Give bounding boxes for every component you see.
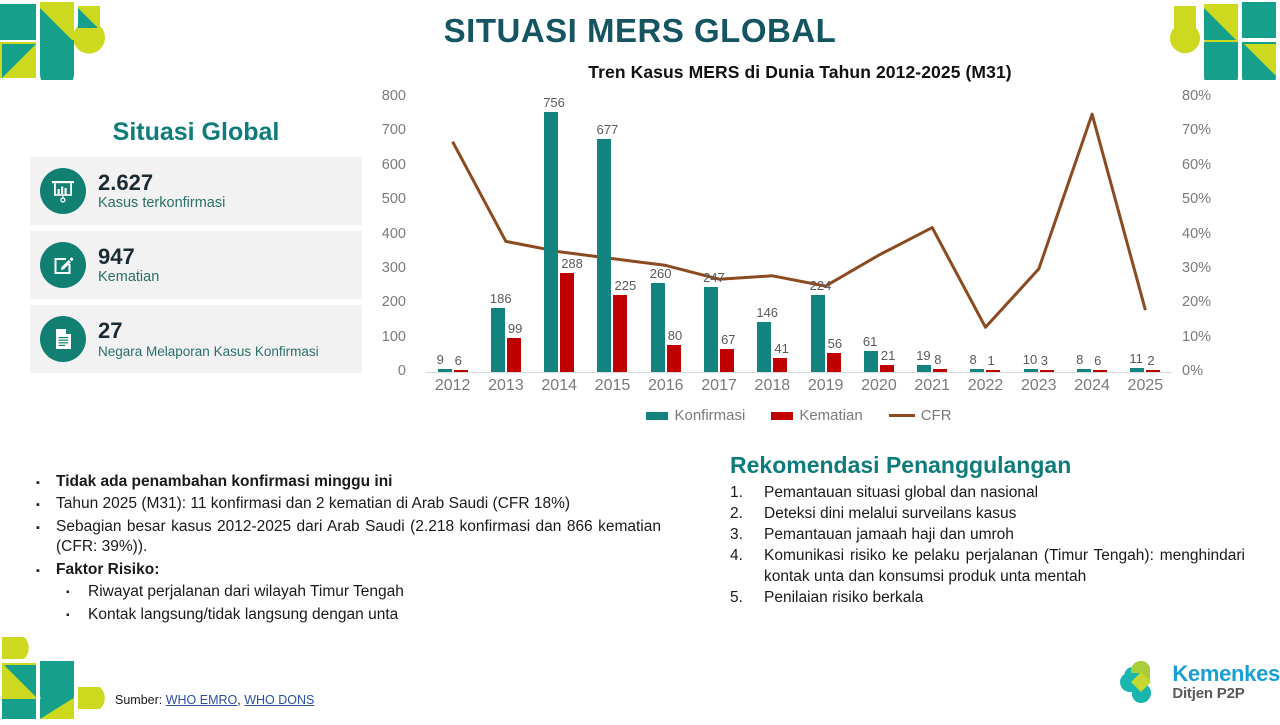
bullet-marker-icon: ▪ bbox=[36, 494, 56, 514]
kemenkes-logo: Kemenkes Ditjen P2P bbox=[1117, 658, 1280, 706]
y-axis-tick-left: 600 bbox=[360, 157, 406, 173]
y-axis-tick-left: 400 bbox=[360, 226, 406, 242]
bar-kematian bbox=[507, 338, 521, 372]
stat-value: 2.627 bbox=[98, 171, 225, 196]
bar-konfirmasi bbox=[704, 287, 718, 372]
legend-item[interactable]: CFR bbox=[889, 407, 952, 424]
bar-group bbox=[692, 97, 745, 372]
legend-item[interactable]: Konfirmasi bbox=[646, 407, 745, 424]
y-axis-tick-left: 300 bbox=[360, 260, 406, 276]
bar-value-label-konfirmasi: 61 bbox=[863, 334, 877, 349]
y-axis-tick-right: 50% bbox=[1182, 191, 1232, 207]
bullet-marker-icon: ▪ bbox=[66, 582, 88, 602]
bullet-marker-icon: ▪ bbox=[36, 472, 56, 492]
source-line: Sumber: WHO EMRO, WHO DONS bbox=[115, 693, 314, 707]
bar-value-label-konfirmasi: 677 bbox=[597, 122, 619, 137]
bullet-marker-icon: ▪ bbox=[66, 605, 88, 625]
note-bullet: ▪Faktor Risiko: bbox=[36, 560, 661, 580]
bar-konfirmasi bbox=[1077, 369, 1091, 372]
bar-group bbox=[799, 97, 852, 372]
bar-value-label-konfirmasi: 146 bbox=[756, 305, 778, 320]
bar-value-label-kematian: 99 bbox=[508, 321, 522, 336]
notes-list: ▪Tidak ada penambahan konfirmasi minggu … bbox=[36, 472, 661, 627]
bar-konfirmasi bbox=[864, 351, 878, 372]
y-axis-tick-left: 100 bbox=[360, 329, 406, 345]
bar-value-label-kematian: 80 bbox=[668, 328, 682, 343]
note-bullet: ▪Sebagian besar kasus 2012-2025 dari Ara… bbox=[36, 517, 661, 558]
recommendation-text: Pemantauan jamaah haji dan umroh bbox=[764, 525, 1245, 545]
bar-group bbox=[1119, 97, 1172, 372]
bar-group bbox=[586, 97, 639, 372]
bar-value-label-kematian: 1 bbox=[988, 353, 995, 368]
bar-kematian bbox=[880, 365, 894, 372]
note-bullet: ▪Kontak langsung/tidak langsung dengan u… bbox=[66, 605, 661, 625]
y-axis-tick-right: 80% bbox=[1182, 88, 1232, 104]
bar-value-label-konfirmasi: 10 bbox=[1023, 352, 1037, 367]
note-bullet: ▪Riwayat perjalanan dari wilayah Timur T… bbox=[66, 582, 661, 602]
recommendation-item: 1.Pemantauan situasi global dan nasional bbox=[730, 483, 1245, 503]
bar-konfirmasi bbox=[1130, 368, 1144, 372]
bar-value-label-kematian: 67 bbox=[721, 332, 735, 347]
stat-text-confirmed: 2.627 Kasus terkonfirmasi bbox=[98, 171, 225, 212]
bar-group bbox=[852, 97, 905, 372]
recommendation-number: 2. bbox=[730, 504, 764, 524]
note-text: Faktor Risiko: bbox=[56, 560, 661, 580]
document-icon bbox=[40, 316, 86, 362]
bar-value-label-konfirmasi: 19 bbox=[916, 348, 930, 363]
situasi-global-heading: Situasi Global bbox=[30, 118, 362, 147]
bar-group bbox=[479, 97, 532, 372]
bar-value-label-konfirmasi: 247 bbox=[703, 270, 725, 285]
bar-kematian bbox=[986, 370, 1000, 372]
bar-group bbox=[906, 97, 959, 372]
recommendation-text: Deteksi dini melalui surveilans kasus bbox=[764, 504, 1245, 524]
bar-value-label-kematian: 21 bbox=[881, 348, 895, 363]
x-axis-tick: 2025 bbox=[1110, 377, 1180, 395]
bar-konfirmasi bbox=[651, 283, 665, 372]
note-text: Riwayat perjalanan dari wilayah Timur Te… bbox=[88, 582, 661, 602]
legend-swatch-konfirmasi bbox=[646, 412, 668, 420]
bar-kematian bbox=[613, 295, 627, 372]
bar-value-label-kematian: 288 bbox=[561, 256, 583, 271]
bar-konfirmasi bbox=[491, 308, 505, 372]
bar-group bbox=[746, 97, 799, 372]
y-axis-tick-right: 70% bbox=[1182, 122, 1232, 138]
legend-label: CFR bbox=[921, 407, 952, 424]
note-text: Tahun 2025 (M31): 11 konfirmasi dan 2 ke… bbox=[56, 494, 661, 514]
bar-kematian bbox=[1146, 370, 1160, 372]
bar-group bbox=[1012, 97, 1065, 372]
recommendation-item: 2.Deteksi dini melalui surveilans kasus bbox=[730, 504, 1245, 524]
legend-label: Konfirmasi bbox=[674, 407, 745, 424]
chart-legend: KonfirmasiKematianCFR bbox=[426, 407, 1172, 424]
recommendations-panel: Rekomendasi Penanggulangan 1.Pemantauan … bbox=[730, 452, 1245, 609]
recommendation-text: Pemantauan situasi global dan nasional bbox=[764, 483, 1245, 503]
bar-group bbox=[533, 97, 586, 372]
note-bullet: ▪Tahun 2025 (M31): 11 konfirmasi dan 2 k… bbox=[36, 494, 661, 514]
recommendation-item: 4.Komunikasi risiko ke pelaku perjalanan… bbox=[730, 546, 1245, 586]
bar-konfirmasi bbox=[597, 139, 611, 372]
y-axis-tick-left: 200 bbox=[360, 294, 406, 310]
bar-value-label-kematian: 41 bbox=[774, 341, 788, 356]
y-axis-tick-right: 20% bbox=[1182, 294, 1232, 310]
bar-value-label-konfirmasi: 8 bbox=[970, 352, 977, 367]
bar-konfirmasi bbox=[544, 112, 558, 372]
bar-konfirmasi bbox=[811, 295, 825, 372]
y-axis-tick-right: 30% bbox=[1182, 260, 1232, 276]
bar-kematian bbox=[667, 345, 681, 373]
link-who-emro[interactable]: WHO EMRO bbox=[166, 693, 238, 707]
recommendation-number: 1. bbox=[730, 483, 764, 503]
chart-baseline bbox=[426, 372, 1172, 373]
bar-group bbox=[959, 97, 1012, 372]
edit-note-icon bbox=[40, 242, 86, 288]
recommendation-text: Komunikasi risiko ke pelaku perjalanan (… bbox=[764, 546, 1245, 586]
stat-card-confirmed-cases: 2.627 Kasus terkonfirmasi bbox=[30, 157, 362, 225]
stat-value: 947 bbox=[98, 245, 159, 270]
kemenkes-logo-text: Kemenkes Ditjen P2P bbox=[1172, 663, 1280, 701]
bar-value-label-konfirmasi: 186 bbox=[490, 291, 512, 306]
bar-kematian bbox=[773, 358, 787, 372]
kemenkes-logo-mark bbox=[1117, 658, 1165, 706]
stat-label: Negara Melaporan Kasus Konfirmasi bbox=[98, 344, 319, 360]
bar-konfirmasi bbox=[438, 369, 452, 372]
bar-value-label-konfirmasi: 8 bbox=[1076, 352, 1083, 367]
stat-label: Kematian bbox=[98, 269, 159, 285]
y-axis-tick-right: 0% bbox=[1182, 363, 1232, 379]
y-axis-tick-right: 60% bbox=[1182, 157, 1232, 173]
bar-kematian bbox=[720, 349, 734, 372]
bar-group bbox=[1065, 97, 1118, 372]
y-axis-tick-right: 10% bbox=[1182, 329, 1232, 345]
recommendation-item: 5.Penilaian risiko berkala bbox=[730, 588, 1245, 608]
bullet-marker-icon: ▪ bbox=[36, 517, 56, 558]
bar-value-label-kematian: 3 bbox=[1041, 353, 1048, 368]
left-panel: Situasi Global 2.627 Kasus terkonfirmasi bbox=[30, 118, 362, 379]
recommendation-text: Penilaian risiko berkala bbox=[764, 588, 1245, 608]
slide-root: SITUASI MERS GLOBAL Situasi Global 2. bbox=[0, 0, 1280, 720]
presentation-chart-icon bbox=[40, 168, 86, 214]
bar-konfirmasi bbox=[1024, 369, 1038, 372]
bar-value-label-konfirmasi: 11 bbox=[1129, 351, 1143, 366]
note-text: Kontak langsung/tidak langsung dengan un… bbox=[88, 605, 661, 625]
stat-card-deaths: 947 Kematian bbox=[30, 231, 362, 299]
bar-value-label-kematian: 56 bbox=[828, 336, 842, 351]
recommendations-items: 1.Pemantauan situasi global dan nasional… bbox=[730, 483, 1245, 608]
note-text: Tidak ada penambahan konfirmasi minggu i… bbox=[56, 472, 661, 492]
bar-kematian bbox=[454, 370, 468, 372]
chart-series-container: 9618699756288677225260802476714641224566… bbox=[426, 97, 1172, 372]
decoration-bottom-left bbox=[0, 635, 120, 720]
bar-konfirmasi bbox=[917, 365, 931, 372]
logo-line-2: Ditjen P2P bbox=[1172, 686, 1280, 701]
stat-card-countries: 27 Negara Melaporan Kasus Konfirmasi bbox=[30, 305, 362, 373]
stat-value: 27 bbox=[98, 319, 319, 344]
bar-value-label-konfirmasi: 756 bbox=[543, 95, 565, 110]
bar-konfirmasi bbox=[970, 369, 984, 372]
note-bullet: ▪Tidak ada penambahan konfirmasi minggu … bbox=[36, 472, 661, 492]
bar-kematian bbox=[560, 273, 574, 372]
chart-plot-area: 8007006005004003002001000 80%70%60%50%40… bbox=[360, 89, 1240, 414]
page-title: SITUASI MERS GLOBAL bbox=[0, 12, 1280, 50]
source-separator: , bbox=[237, 693, 240, 707]
source-prefix: Sumber: bbox=[115, 693, 162, 707]
bar-group bbox=[426, 97, 479, 372]
legend-swatch-cfr bbox=[889, 414, 915, 417]
bar-kematian bbox=[1093, 370, 1107, 372]
chart-title: Tren Kasus MERS di Dunia Tahun 2012-2025… bbox=[360, 62, 1240, 83]
bar-value-label-konfirmasi: 224 bbox=[810, 278, 832, 293]
recommendation-number: 4. bbox=[730, 546, 764, 586]
bar-group bbox=[639, 97, 692, 372]
y-axis-tick-right: 40% bbox=[1182, 226, 1232, 242]
bar-kematian bbox=[933, 369, 947, 372]
bullet-marker-icon: ▪ bbox=[36, 560, 56, 580]
note-text: Sebagian besar kasus 2012-2025 dari Arab… bbox=[56, 517, 661, 558]
stat-text-countries: 27 Negara Melaporan Kasus Konfirmasi bbox=[98, 319, 319, 359]
stat-label: Kasus terkonfirmasi bbox=[98, 195, 225, 211]
bar-value-label-kematian: 225 bbox=[615, 278, 637, 293]
link-who-dons[interactable]: WHO DONS bbox=[244, 693, 314, 707]
stat-text-deaths: 947 Kematian bbox=[98, 245, 159, 286]
y-axis-tick-left: 0 bbox=[360, 363, 406, 379]
y-axis-tick-left: 700 bbox=[360, 122, 406, 138]
bar-value-label-kematian: 6 bbox=[1094, 353, 1101, 368]
bar-value-label-kematian: 2 bbox=[1147, 353, 1154, 368]
legend-label: Kematian bbox=[799, 407, 862, 424]
legend-swatch-kematian bbox=[771, 412, 793, 420]
bar-value-label-konfirmasi: 9 bbox=[437, 352, 444, 367]
bar-konfirmasi bbox=[757, 322, 771, 372]
bar-value-label-kematian: 6 bbox=[455, 353, 462, 368]
bar-kematian bbox=[827, 353, 841, 372]
chart-block: Tren Kasus MERS di Dunia Tahun 2012-2025… bbox=[360, 62, 1240, 432]
recommendation-number: 5. bbox=[730, 588, 764, 608]
logo-line-1: Kemenkes bbox=[1172, 663, 1280, 685]
recommendation-item: 3.Pemantauan jamaah haji dan umroh bbox=[730, 525, 1245, 545]
bar-value-label-kematian: 8 bbox=[934, 352, 941, 367]
bar-kematian bbox=[1040, 370, 1054, 372]
y-axis-tick-left: 500 bbox=[360, 191, 406, 207]
y-axis-tick-left: 800 bbox=[360, 88, 406, 104]
recommendation-number: 3. bbox=[730, 525, 764, 545]
legend-item[interactable]: Kematian bbox=[771, 407, 862, 424]
recommendations-title: Rekomendasi Penanggulangan bbox=[730, 452, 1245, 479]
bar-value-label-konfirmasi: 260 bbox=[650, 266, 672, 281]
